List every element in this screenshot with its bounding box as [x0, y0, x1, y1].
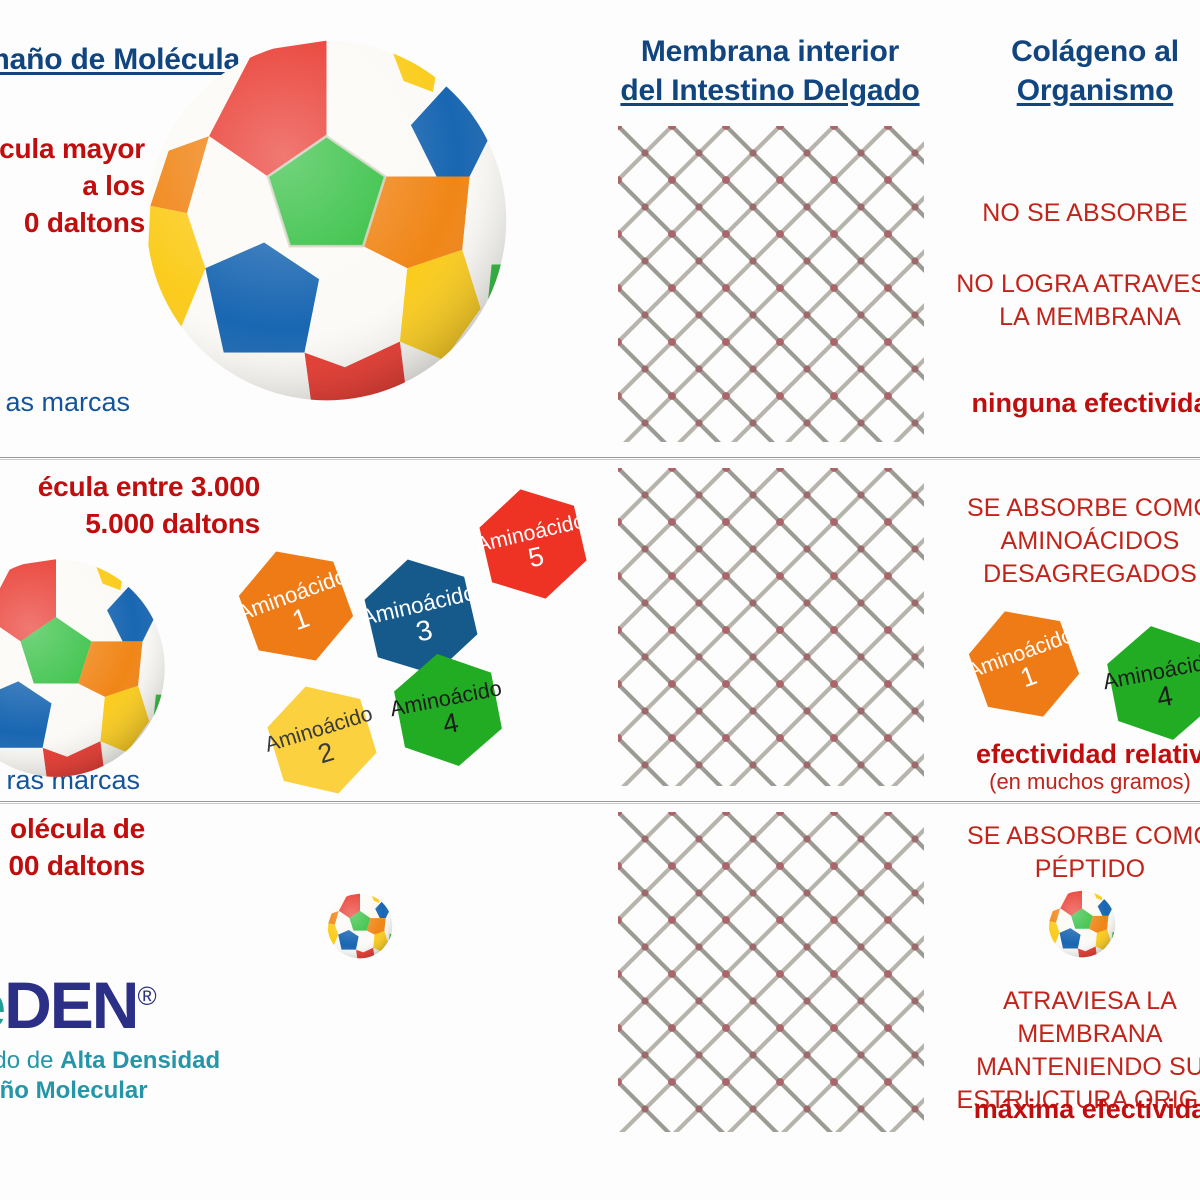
soccer-ball-graphic [327, 893, 393, 959]
row-divider-1 [0, 457, 1200, 458]
row2-status-line-2: AMINOÁCIDOS [920, 525, 1200, 558]
row2-status-line-1: SE ABSORBE COMO [920, 492, 1200, 525]
row2-heading-line-2: 5.000 daltons [0, 505, 260, 542]
row1-heading-line-3: 0 daltons [0, 204, 145, 241]
ball-medium-row2 [0, 557, 167, 779]
intestinal-membrane-mesh [618, 468, 924, 786]
soccer-ball-graphic [1048, 890, 1116, 958]
row1-heading: cula mayor a los 0 daltons [0, 130, 145, 241]
row2-verdict-note: (en muchos gramos) [920, 768, 1200, 796]
header-line-2: Organismo [945, 71, 1200, 110]
row1-detail-line-2: LA MEMBRANA [920, 301, 1200, 334]
header-line-1: Membrana interior [600, 32, 940, 71]
logo-tagline-line-1: o Hidrolizado de Alta Densidad [0, 1046, 330, 1076]
amino-acid-hexagon-4: Aminoácido4 [381, 643, 515, 777]
row3-detail-line-3: MANTENIENDO SU [920, 1051, 1200, 1084]
column-header-membrane: Membrana interior del Intestino Delgado [600, 32, 940, 110]
row2-heading-line-1: écula entre 3.000 [0, 468, 260, 505]
amino-acid-hexagon-4: Aminoácido4 [1094, 615, 1200, 751]
brand-logo: lágeDEN® o Hidrolizado de Alta Densidad … [0, 963, 330, 1106]
soccer-ball-graphic [0, 557, 167, 779]
row3-detail-line-1: ATRAVIESA LA [920, 985, 1200, 1018]
row-divider-2-shadow [0, 803, 1200, 804]
registered-trademark-icon: ® [137, 981, 154, 1011]
mesh-row-2 [618, 468, 924, 786]
row3-status-line-1: SE ABSORBE COMO [920, 820, 1200, 853]
ball-small-row3-right [1048, 890, 1116, 958]
row-divider-1-shadow [0, 459, 1200, 460]
row3-detail-line-2: MEMBRANA [920, 1018, 1200, 1051]
ball-small-row3 [327, 893, 393, 959]
header-line-1: maño de Molécula [0, 40, 240, 79]
intestinal-membrane-mesh [618, 812, 924, 1132]
row1-heading-line-2: a los [0, 167, 145, 204]
amino-acid-hexagon-2: Aminoácido2 [252, 670, 392, 810]
row3-verdict: máxima efectivida [920, 1092, 1200, 1126]
row1-heading-line-1: cula mayor [0, 130, 145, 167]
column-header-organism: Colágeno al Organismo [945, 32, 1200, 110]
row1-verdict: ninguna efectivida [920, 386, 1200, 420]
mesh-row-1 [618, 126, 924, 442]
amino-acid-hexagon-1: Aminoácido1 [952, 592, 1096, 736]
logo-tagline-line-2: Bajo Tamaño Molecular [0, 1076, 330, 1106]
row2-status-line-3: DESAGREGADOS [920, 558, 1200, 591]
row-divider-2 [0, 801, 1200, 802]
row2-verdict: efectividad relativ [920, 737, 1200, 771]
row3-status-line-2: PÉPTIDO [920, 853, 1200, 886]
tagline-bold-2: Bajo Tamaño Molecular [0, 1077, 148, 1104]
header-line-1: Colágeno al [945, 32, 1200, 71]
row3-status: SE ABSORBE COMO PÉPTIDO [920, 820, 1200, 886]
intestinal-membrane-mesh [618, 126, 924, 442]
ball-large-row1 [143, 37, 510, 404]
row1-status-line-1: NO SE ABSORBE [920, 197, 1200, 230]
amino-acid-hexagon-1: Aminoácido1 [222, 532, 371, 681]
row1-status: NO SE ABSORBE [920, 197, 1200, 230]
column-header-molecule-size: maño de Molécula [0, 40, 240, 79]
amino-acid-hexagon-5: Aminoácido5 [466, 477, 600, 611]
row2-status: SE ABSORBE COMO AMINOÁCIDOS DESAGREGADOS [920, 492, 1200, 591]
row3-heading: olécula de 00 daltons [0, 810, 145, 884]
mesh-row-3 [618, 812, 924, 1132]
row1-brand-note: as marcas [0, 385, 130, 419]
tagline-plain: o Hidrolizado de [0, 1047, 60, 1074]
logo-wordmark: lágeDEN® [0, 963, 330, 1038]
infographic-canvas: maño de Molécula Membrana interior del I… [0, 0, 1200, 1200]
row1-detail-line-1: NO LOGRA ATRAVESA [920, 268, 1200, 301]
logo-word-navy: DEN [4, 968, 137, 1042]
header-line-2: del Intestino Delgado [600, 71, 940, 110]
tagline-bold-1: Alta Densidad [60, 1047, 220, 1074]
row1-detail: NO LOGRA ATRAVESA LA MEMBRANA [920, 268, 1200, 334]
row3-heading-line-2: 00 daltons [0, 847, 145, 884]
row2-heading: écula entre 3.000 5.000 daltons [0, 468, 260, 542]
row3-heading-line-1: olécula de [0, 810, 145, 847]
soccer-ball-graphic [143, 37, 510, 404]
